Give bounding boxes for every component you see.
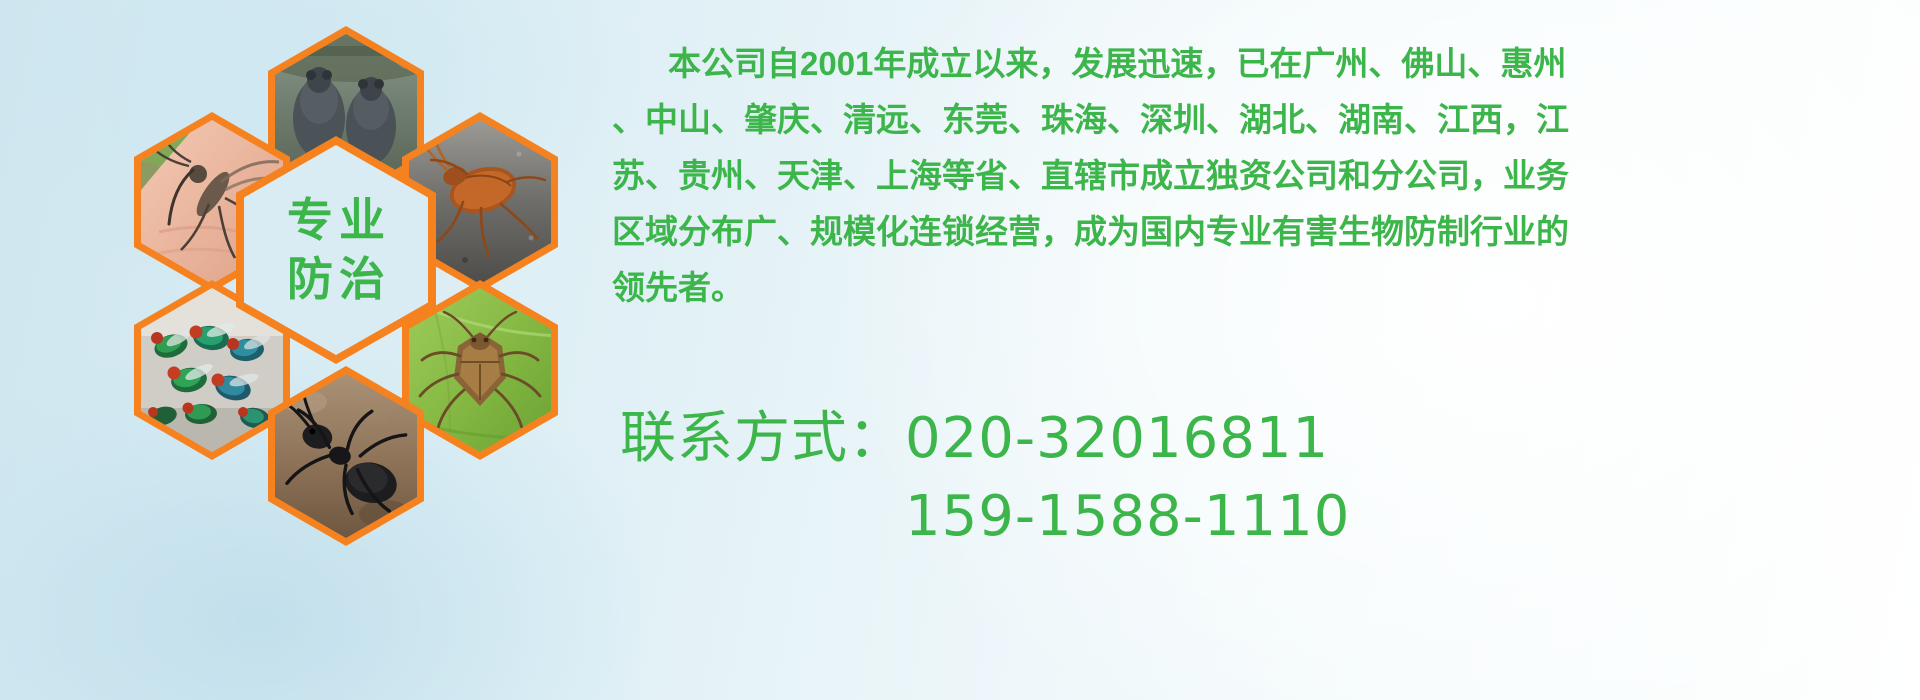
contact-block: 联系方式：020-32016811 159-1588-1110: [620, 400, 1920, 556]
intro-line-1: 本公司自2001年成立以来，发展迅速，已在广州、佛山、惠州: [612, 36, 1912, 92]
intro-line-2: 、中山、肇庆、清远、东莞、珠海、深圳、湖北、湖南、江西，江: [612, 92, 1912, 148]
contact-line-secondary[interactable]: 159-1588-1110: [620, 478, 1920, 556]
ant-icon: [275, 374, 417, 538]
logo-line-1: 专业: [281, 191, 391, 250]
hex-photo-ant-inner: [275, 374, 417, 538]
logo-hexagon-inner: 专业 防治: [244, 145, 428, 355]
hex-photo-ant[interactable]: [268, 366, 424, 546]
logo-line-2: 防治: [281, 250, 391, 309]
contact-line-primary[interactable]: 联系方式：020-32016811: [620, 400, 1920, 478]
hex-photo-stinkbug-inner: [409, 288, 551, 452]
intro-line-3: 苏、贵州、天津、上海等省、直辖市成立独资公司和分公司，业务: [612, 148, 1912, 204]
hexagon-photo-cluster: 专业 防治: [90, 8, 590, 568]
promo-banner: 专业 防治 本公司自2001年成立以来，发展迅速，已在广州、佛山、惠州 、中山、…: [0, 0, 1920, 700]
intro-line-5: 领先者。: [612, 260, 1912, 316]
company-intro-paragraph: 本公司自2001年成立以来，发展迅速，已在广州、佛山、惠州 、中山、肇庆、清远、…: [612, 36, 1912, 316]
intro-line-4: 区域分布广、规模化连锁经营，成为国内专业有害生物防制行业的: [612, 204, 1912, 260]
stinkbug-icon: [409, 288, 551, 452]
